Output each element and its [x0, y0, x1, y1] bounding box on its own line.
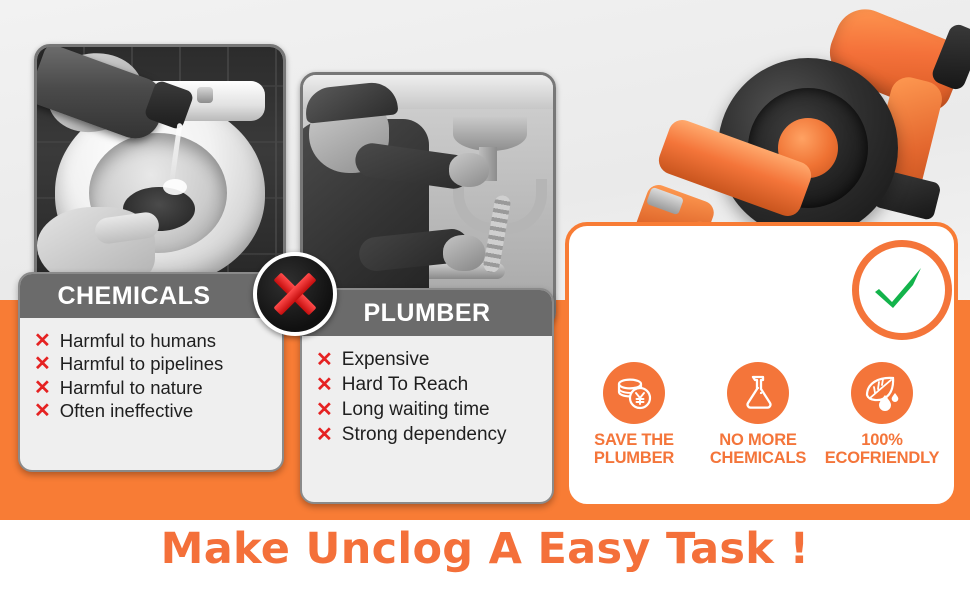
list-item-label: Strong dependency — [342, 424, 507, 446]
plumber-hand-upper — [449, 153, 489, 187]
list-item-label: Hard To Reach — [342, 374, 468, 396]
red-x-icon: ✕ — [34, 401, 51, 421]
benefit-label-line1: NO MORE — [696, 432, 820, 450]
list-item-label: Harmful to nature — [60, 377, 203, 399]
sink-basin — [453, 117, 527, 151]
benefit-label-line2: PLUMBER — [572, 450, 696, 468]
benefit-no-more-chemicals: NO MORE CHEMICALS — [696, 362, 820, 468]
plumber-drawback-list: ✕ Expensive ✕ Hard To Reach ✕ Long waiti… — [302, 336, 552, 459]
page-headline: Make Unclog A Easy Task ! — [0, 524, 970, 574]
list-item: ✕ Harmful to nature — [34, 377, 282, 399]
benefit-label-line2: ECOFRIENDLY — [820, 450, 944, 468]
list-item: ✕ Hard To Reach — [316, 374, 552, 396]
plumber-hand-lower — [443, 235, 485, 271]
benefit-label-line1: SAVE THE — [572, 432, 696, 450]
list-item: ✕ Expensive — [316, 349, 552, 371]
chemicals-drawback-list: ✕ Harmful to humans ✕ Harmful to pipelin… — [20, 318, 282, 434]
benefit-save-the-plumber: SAVE THE PLUMBER — [572, 362, 696, 468]
benefit-label-line1: 100% — [820, 432, 944, 450]
liquid-splash — [163, 179, 187, 195]
red-x-icon: ✕ — [34, 354, 51, 374]
red-x-mark-icon — [253, 252, 337, 336]
list-item-label: Harmful to humans — [60, 330, 216, 352]
list-item: ✕ Harmful to pipelines — [34, 353, 282, 375]
green-check-mark-icon — [852, 240, 952, 340]
coins-yen-icon — [603, 362, 665, 424]
chemicals-card: CHEMICALS ✕ Harmful to humans ✕ Harmful … — [18, 272, 284, 472]
list-item: ✕ Long waiting time — [316, 399, 552, 421]
plumber-card: PLUMBER ✕ Expensive ✕ Hard To Reach ✕ Lo… — [300, 288, 554, 504]
benefits-row: SAVE THE PLUMBER NO MORE CHEMICALS — [572, 362, 944, 468]
plumber-card-title: PLUMBER — [302, 290, 552, 336]
red-x-icon: ✕ — [34, 331, 51, 351]
red-x-icon: ✕ — [316, 350, 333, 370]
flask-icon — [727, 362, 789, 424]
infographic-stage: CHEMICALS ✕ Harmful to humans ✕ Harmful … — [0, 0, 970, 600]
list-item: ✕ Often ineffective — [34, 400, 282, 422]
seat-hinge — [197, 87, 213, 103]
list-item: ✕ Strong dependency — [316, 424, 552, 446]
chemicals-card-title: CHEMICALS — [20, 274, 282, 318]
benefit-label-line2: CHEMICALS — [696, 450, 820, 468]
red-x-icon: ✕ — [316, 375, 333, 395]
red-x-icon: ✕ — [34, 378, 51, 398]
list-item-label: Long waiting time — [342, 399, 490, 421]
list-item-label: Expensive — [342, 349, 430, 371]
list-item-label: Harmful to pipelines — [60, 353, 224, 375]
red-x-icon: ✕ — [316, 425, 333, 445]
benefit-100-ecofriendly: 100% ECOFRIENDLY — [820, 362, 944, 468]
red-x-icon: ✕ — [316, 400, 333, 420]
leaf-water-drop-icon — [851, 362, 913, 424]
list-item: ✕ Harmful to humans — [34, 330, 282, 352]
list-item-label: Often ineffective — [60, 400, 193, 422]
